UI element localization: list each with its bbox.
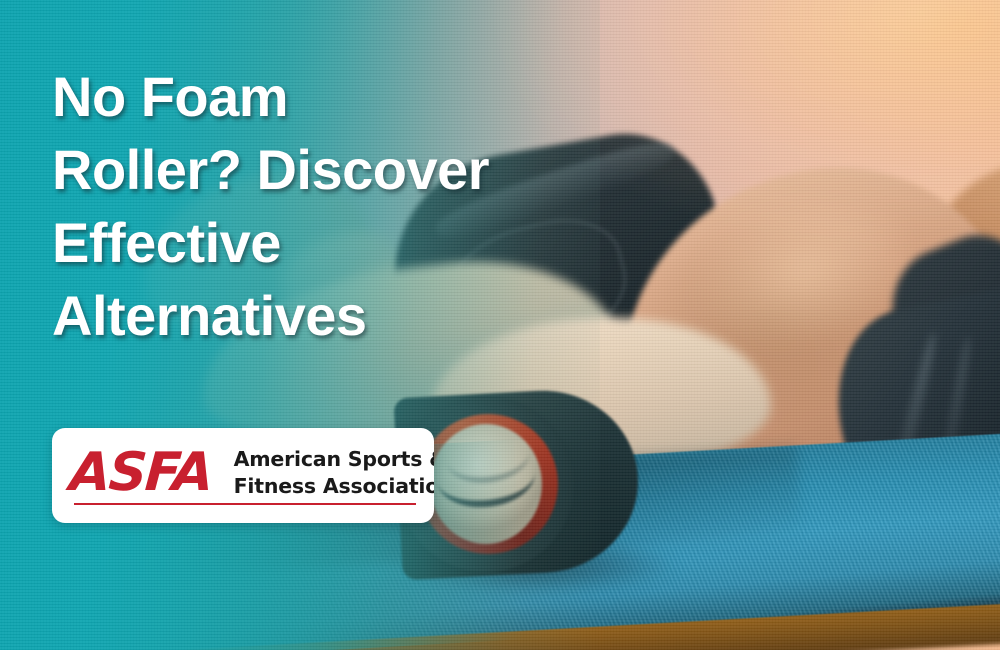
logo-inner: ASFA American Sports & Fitness Associati… (52, 428, 434, 523)
asfa-logo-card[interactable]: ASFA American Sports & Fitness Associati… (52, 428, 434, 523)
logo-name-block: American Sports & Fitness Association® (234, 447, 434, 498)
page-title: No Foam Roller? Discover Effective Alter… (52, 60, 592, 352)
logo-underline-rule (74, 503, 416, 505)
logo-name-line-2: Fitness Association® (234, 471, 434, 498)
asfa-wordmark: ASFA (68, 446, 223, 499)
logo-name-line-2-text: Fitness Association (234, 474, 434, 498)
hero-banner: No Foam Roller? Discover Effective Alter… (0, 0, 1000, 650)
logo-name-line-1: American Sports & (234, 447, 434, 471)
